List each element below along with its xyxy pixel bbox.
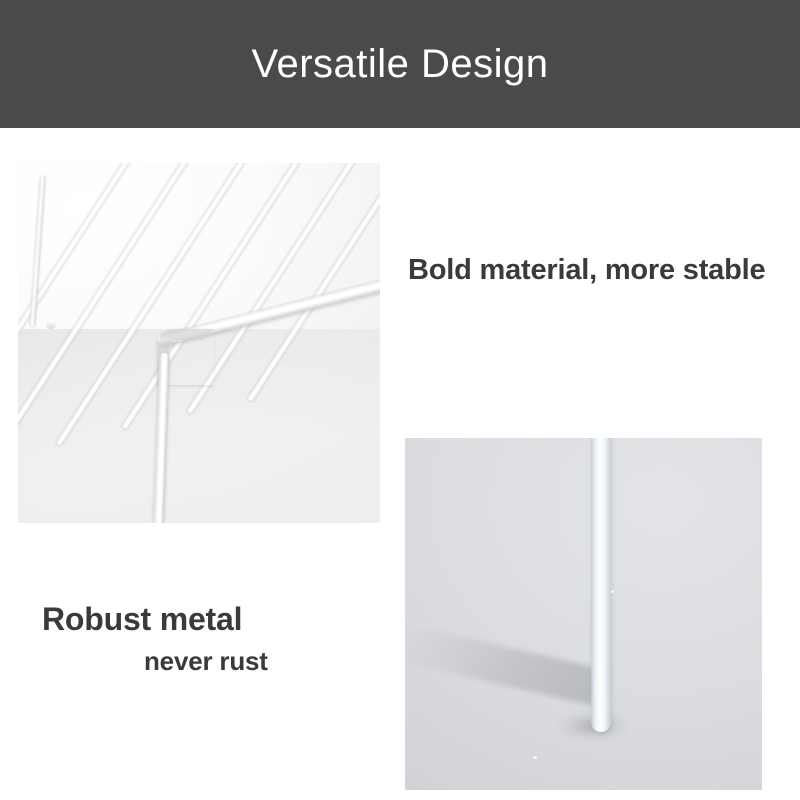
photo-metal-leg	[405, 438, 762, 790]
surface-speck-2	[533, 756, 537, 759]
caption-robust-metal: Robust metal	[42, 603, 242, 635]
surface-speck-1	[611, 590, 614, 593]
caption-never-rust: never rust	[144, 648, 268, 674]
rack-back-leg-foot	[46, 321, 56, 329]
page-title: Versatile Design	[251, 44, 548, 84]
leg-rod	[591, 438, 611, 732]
photo-wire-rack	[18, 163, 380, 523]
caption-bold-material: Bold material, more stable	[408, 256, 765, 285]
header-banner: Versatile Design	[0, 0, 800, 128]
